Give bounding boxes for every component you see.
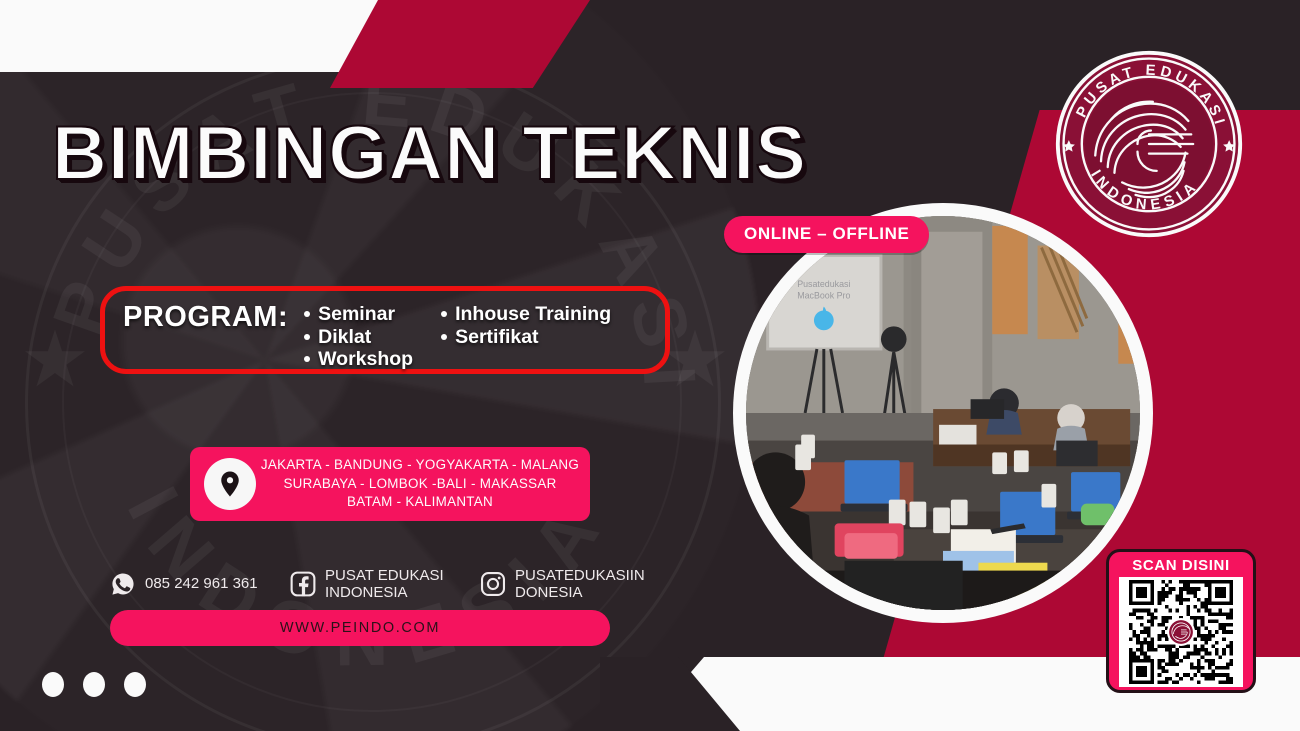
program-column-left: Seminar Diklat Workshop <box>304 303 413 371</box>
dot-3 <box>124 672 146 697</box>
screen-text-line-1: Pusatedukasi <box>797 279 850 289</box>
list-item: Diklat <box>304 326 413 349</box>
list-item: Seminar <box>304 303 413 326</box>
program-columns: Seminar Diklat Workshop Inhouse Training… <box>304 299 611 371</box>
qr-center-logo <box>1167 618 1195 646</box>
online-offline-badge: ONLINE – OFFLINE <box>724 216 929 253</box>
watermark-star-right-icon: ★ <box>660 320 730 398</box>
screen-text-line-2: MacBook Pro <box>797 291 850 301</box>
promotional-banner: ★ ★ PUSAT EDUKASI INDONESIA BIMBINGAN TE… <box>0 0 1300 731</box>
whatsapp-number: 085 242 961 361 <box>145 575 258 593</box>
facebook-contact[interactable]: PUSAT EDUKASI INDONESIA <box>290 567 480 602</box>
locations-pill: JAKARTA - BANDUNG - YOGYAKARTA - MALANG … <box>190 447 590 521</box>
locations-line-1: JAKARTA - BANDUNG - YOGYAKARTA - MALANG <box>260 456 580 475</box>
program-label: PROGRAM: <box>123 299 288 335</box>
bullet-icon <box>304 334 310 340</box>
facebook-name: PUSAT EDUKASI INDONESIA <box>325 567 444 602</box>
online-offline-label: ONLINE – OFFLINE <box>744 224 909 243</box>
list-item: Workshop <box>304 348 413 371</box>
website-button[interactable]: WWW.PEINDO.COM <box>110 610 610 646</box>
list-item: Sertifikat <box>441 326 611 349</box>
program-column-right: Inhouse Training Sertifikat <box>441 303 611 371</box>
dot-1 <box>42 672 64 697</box>
list-item-label: Workshop <box>318 348 413 371</box>
decorative-dots <box>42 672 146 697</box>
bullet-icon <box>304 311 310 317</box>
dot-2 <box>83 672 105 697</box>
map-pin-icon <box>204 458 256 510</box>
bullet-icon <box>441 311 447 317</box>
whatsapp-icon <box>110 571 136 597</box>
page-title: BIMBINGAN TEKNIS <box>52 110 807 197</box>
locations-line-3: BATAM - KALIMANTAN <box>260 493 580 512</box>
bullet-icon <box>441 334 447 340</box>
bullet-icon <box>304 356 310 362</box>
instagram-contact[interactable]: PUSATEDUKASIIN DONESIA <box>480 567 645 602</box>
list-item-label: Diklat <box>318 326 371 349</box>
contacts-row: 085 242 961 361 PUSAT EDUKASI INDONESIA <box>110 562 670 606</box>
qr-card[interactable]: SCAN DISINI <box>1106 549 1256 693</box>
whatsapp-contact[interactable]: 085 242 961 361 <box>110 571 290 597</box>
qr-title: SCAN DISINI <box>1132 557 1229 574</box>
watermark-star-left-icon: ★ <box>20 320 90 398</box>
website-label: WWW.PEINDO.COM <box>280 620 440 636</box>
instagram-name: PUSATEDUKASIIN DONESIA <box>515 567 645 602</box>
list-item-label: Sertifikat <box>455 326 538 349</box>
training-room-photo: Pusatedukasi MacBook Pro <box>746 216 1140 610</box>
facebook-name-line-1: PUSAT EDUKASI <box>325 567 444 584</box>
list-item-label: Inhouse Training <box>455 303 611 326</box>
locations-text: JAKARTA - BANDUNG - YOGYAKARTA - MALANG … <box>256 456 590 512</box>
instagram-name-line-1: PUSATEDUKASIIN <box>515 567 645 584</box>
instagram-icon <box>480 571 506 597</box>
qr-code <box>1119 577 1243 687</box>
list-item-label: Seminar <box>318 303 395 326</box>
program-box: PROGRAM: Seminar Diklat Workshop Inhouse… <box>100 286 670 374</box>
instagram-name-line-2: DONESIA <box>515 584 583 601</box>
list-item: Inhouse Training <box>441 303 611 326</box>
brand-logo: PUSAT EDUKASI INDONESIA <box>1053 48 1245 240</box>
locations-line-2: SURABAYA - LOMBOK -BALI - MAKASSAR <box>260 475 580 494</box>
facebook-icon <box>290 571 316 597</box>
facebook-name-line-2: INDONESIA <box>325 584 408 601</box>
training-photo-frame: Pusatedukasi MacBook Pro <box>733 203 1153 623</box>
